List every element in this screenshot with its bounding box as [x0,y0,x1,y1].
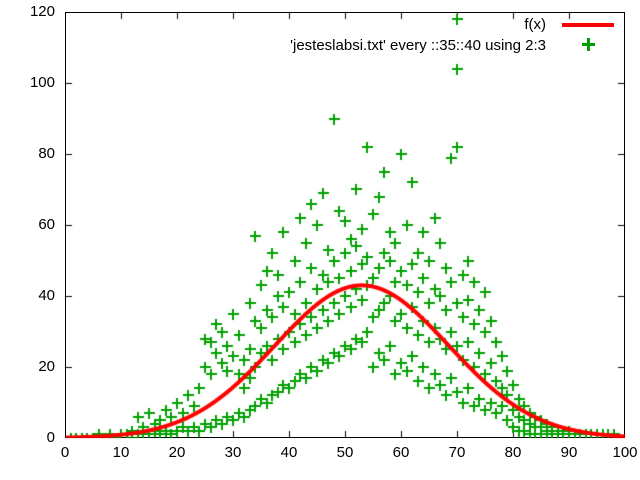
x-tick-label: 60 [371,445,431,460]
legend-entry-fx: f(x) [240,14,622,35]
x-tick-label: 20 [147,445,207,460]
x-tick-label: 40 [259,445,319,460]
x-tick-label: 30 [203,445,263,460]
green-plus-icon [582,38,595,51]
x-tick-label: 10 [91,445,151,460]
y-tick-label: 80 [38,146,55,161]
y-tick-label: 40 [38,288,55,303]
legend-label-fx: f(x) [524,16,554,33]
legend-key-plus [554,35,622,56]
y-tick-label: 20 [38,359,55,374]
y-tick-label: 120 [30,4,55,19]
legend-key-line [554,14,622,35]
x-tick-label: 70 [427,445,487,460]
y-tick-label: 0 [47,430,55,445]
x-tick-label: 90 [539,445,599,460]
legend-label-data: 'jesteslabsi.txt' every ::35::40 using 2… [290,37,554,54]
red-line-icon [562,23,614,27]
x-tick-label: 100 [595,445,640,460]
legend-entry-data: 'jesteslabsi.txt' every ::35::40 using 2… [240,35,622,56]
chart-canvas [0,0,640,480]
chart-root: 020406080100120 0102030405060708090100 f… [0,0,640,480]
x-tick-label: 50 [315,445,375,460]
x-tick-label: 0 [35,445,95,460]
y-tick-label: 100 [30,75,55,90]
chart-legend: f(x) 'jesteslabsi.txt' every ::35::40 us… [240,14,622,56]
x-tick-label: 80 [483,445,543,460]
y-tick-label: 60 [38,217,55,232]
